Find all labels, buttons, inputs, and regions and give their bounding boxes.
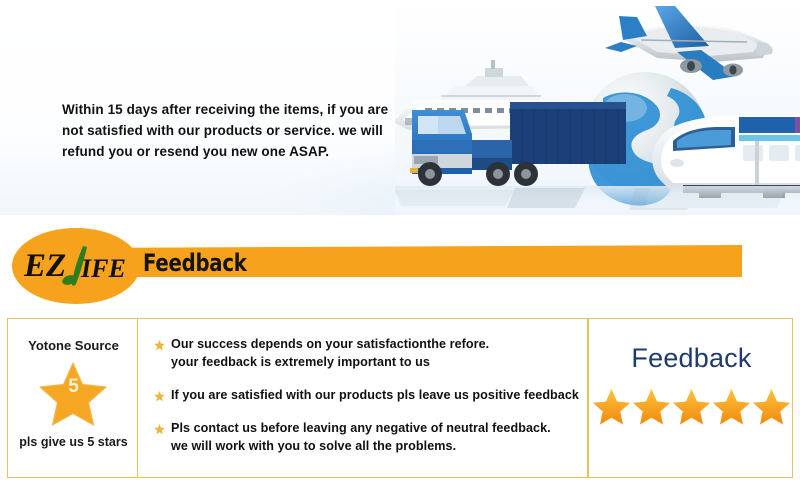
ezlife-logo-artwork: EZ L IFE	[24, 244, 154, 290]
brand-banner: EZ L IFE Feedback	[0, 218, 800, 310]
feedback-rating-panel: Feedback	[588, 318, 793, 478]
ezlife-logo: EZ L IFE	[24, 244, 154, 288]
star-bullet-icon	[154, 338, 165, 349]
hero-section: Within 15 days after receiving the items…	[0, 0, 800, 215]
list-item-line: If you are satisfied with our products p…	[171, 386, 574, 404]
list-item: Our success depends on your satisfaction…	[154, 335, 574, 371]
logistics-artwork	[395, 0, 800, 215]
logo-ife-text: IFE	[80, 254, 126, 283]
seller-name: Yotone Source	[8, 338, 139, 353]
feedback-heading: Feedback	[589, 343, 794, 374]
feedback-banner-page: Within 15 days after receiving the items…	[0, 0, 800, 498]
list-item-line: Pls contact us before leaving any negati…	[171, 419, 574, 437]
five-star-rating	[591, 387, 792, 427]
logo-ez-text: EZ	[24, 248, 66, 284]
policy-bullet-list: Our success depends on your satisfaction…	[154, 335, 574, 455]
rating-star-icon	[752, 388, 791, 426]
list-item: If you are satisfied with our products p…	[154, 386, 574, 404]
rating-star-icon	[592, 388, 631, 426]
star-bullet-icon	[154, 422, 165, 433]
list-item-line: your feedback is extremely important to …	[171, 353, 574, 371]
seller-rating-panel: Yotone Source 5 pls give us 5 stars	[7, 318, 138, 478]
rating-star-icon	[672, 388, 711, 426]
list-item: Pls contact us before leaving any negati…	[154, 419, 574, 455]
five-star-badge-icon	[39, 361, 107, 427]
return-policy-text: Within 15 days after receiving the items…	[62, 99, 402, 162]
rating-star-icon	[712, 388, 751, 426]
global-logistics-illustration	[395, 0, 800, 215]
rating-request-text: pls give us 5 stars	[8, 435, 139, 449]
star-bullet-icon	[154, 389, 165, 400]
train-icon	[652, 115, 800, 198]
rating-star-icon	[632, 388, 671, 426]
banner-title: Feedback	[143, 249, 247, 277]
list-item-line: we will work with you to solve all the p…	[171, 437, 574, 455]
list-item-line: Our success depends on your satisfaction…	[171, 335, 574, 353]
feedback-policy-panel: Our success depends on your satisfaction…	[138, 318, 588, 478]
feedback-panels: Yotone Source 5 pls give us 5 stars O	[7, 318, 793, 478]
